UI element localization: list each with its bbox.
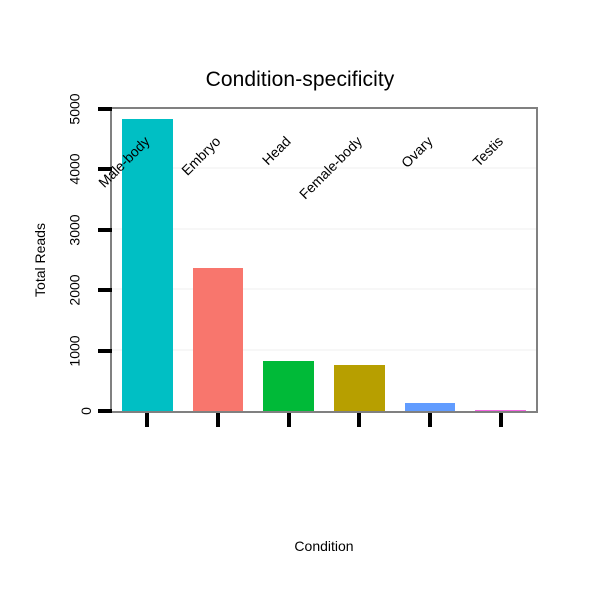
y-tick-mark	[98, 228, 112, 232]
gridline	[112, 349, 536, 351]
y-tick-label: 3000	[66, 214, 82, 245]
y-tick-label: 0	[78, 407, 94, 415]
bar	[263, 361, 314, 411]
x-tick-mark	[499, 413, 503, 427]
y-axis-title: Total Reads	[32, 223, 48, 297]
bar	[193, 268, 244, 411]
x-tick-mark	[216, 413, 220, 427]
y-tick-label: 4000	[66, 154, 82, 185]
y-tick-mark	[98, 349, 112, 353]
y-tick-mark	[98, 409, 112, 413]
y-tick-label: 1000	[66, 335, 82, 366]
y-tick-label: 5000	[66, 93, 82, 124]
x-tick-mark	[428, 413, 432, 427]
gridline	[112, 288, 536, 290]
gridline	[112, 228, 536, 230]
bar	[334, 365, 385, 411]
x-tick-mark	[357, 413, 361, 427]
plot-panel: 010002000300040005000 Male-bodyEmbryoHea…	[110, 107, 538, 413]
chart-figure: Condition-specificity 010002000300040005…	[0, 0, 600, 600]
bar	[405, 403, 456, 411]
x-axis-title: Condition	[110, 538, 538, 554]
x-tick-mark	[145, 413, 149, 427]
chart-title: Condition-specificity	[0, 68, 600, 92]
y-tick-mark	[98, 107, 112, 111]
y-tick-label: 2000	[66, 275, 82, 306]
x-tick-mark	[287, 413, 291, 427]
y-tick-mark	[98, 288, 112, 292]
bar	[475, 410, 526, 412]
